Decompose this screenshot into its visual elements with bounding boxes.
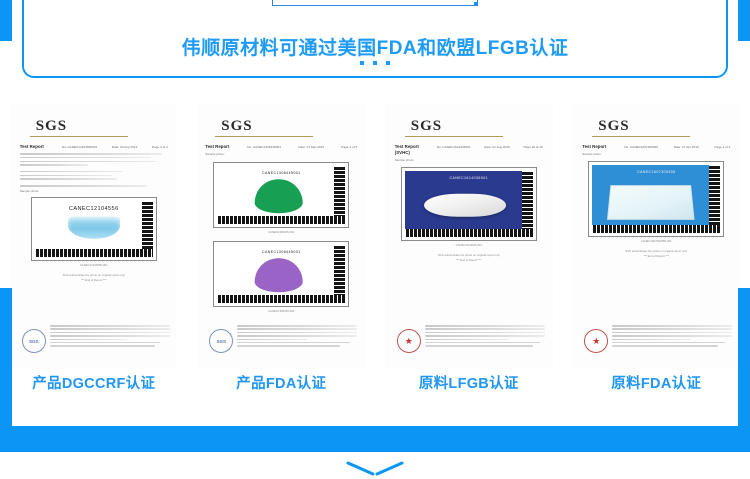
sample-photo: CANEC1614036001 <box>405 171 533 237</box>
sgs-logo: SGS <box>221 118 252 135</box>
seal-address-text <box>612 325 732 355</box>
certificate-item-fda-product[interactable]: SGS Test Report No. CANEC1306445001 Date… <box>188 103 376 403</box>
sample-photo-code: CANEC1607300455 <box>592 170 720 174</box>
report-page: Page 4 of 5 <box>341 145 357 149</box>
sample-photo-caption-top: CANEC1306445-001 <box>214 230 348 234</box>
sample-photo-frame-top: CANEC1306445001 CANEC1306445-001 <box>213 162 349 228</box>
report-body-text <box>20 153 168 187</box>
footer-note-end: *** End of Report *** <box>393 258 545 263</box>
sample-photo-code: CANEC12104556 <box>35 206 153 212</box>
footer-accent-bar <box>0 426 750 452</box>
certificate-item-lfgb-material[interactable]: SGS Test Report (SVHC) No. CANEC16140360… <box>375 103 563 403</box>
sgs-logo-rule <box>215 136 313 137</box>
report-number: No. CANEC1614036001 <box>437 145 471 149</box>
footer-accent-tab-left <box>0 288 12 426</box>
certificate-sheet: SGS Test Report No. CANEC1607300455 Date… <box>572 103 740 369</box>
star-glyph: ★ <box>592 337 600 346</box>
ruler-horizontal <box>405 229 533 237</box>
ruler-vertical <box>522 171 533 237</box>
report-title: Test Report (SVHC) <box>395 144 433 156</box>
sample-photo-caption: CANEC1607300455-001 <box>589 239 723 243</box>
report-date: Date: 03 Aug 2012 <box>112 145 138 149</box>
sgs-logo: SGS <box>411 118 442 135</box>
report-page: Page 10 of 10 <box>523 145 542 149</box>
certificate-item-fda-material[interactable]: SGS Test Report No. CANEC1607300455 Date… <box>563 103 750 403</box>
sample-object-white-sheet <box>607 185 695 220</box>
dot-1 <box>360 61 364 65</box>
decorative-dots <box>0 61 750 65</box>
report-title-sub: (SVHC) <box>395 150 410 155</box>
sgs-logo-rule <box>592 136 690 137</box>
report-page: Page 4 of 4 <box>152 145 168 149</box>
sample-photo-code-bottom: CANEC1306445001 <box>217 250 345 254</box>
sample-photo-frame-bottom: CANEC1306445001 CANEC1306445-002 <box>213 241 349 307</box>
sample-photo-frame: CANEC1614036001 CANEC1614036-001 <box>401 167 537 241</box>
report-page: Page 4 of 4 <box>714 145 730 149</box>
report-header-row: Test Report (SVHC) No. CANEC1614036001 D… <box>395 144 543 156</box>
footer-note-end: *** End of Report *** <box>580 254 732 259</box>
report-title: Test Report <box>582 144 620 150</box>
report-title: Test Report <box>205 144 243 150</box>
report-date: Date: 07 Mar 2013 <box>298 145 324 149</box>
certificate-caption-fda-material: 原料FDA认证 <box>563 372 750 393</box>
seal-address-text <box>50 325 170 355</box>
sgs-seal-icon: SGS <box>22 329 46 353</box>
sgs-logo: SGS <box>598 118 629 135</box>
red-star-seal-icon: ★ <box>397 329 421 353</box>
report-title: Test Report <box>20 144 58 150</box>
sgs-logo-rule <box>30 136 128 137</box>
sgs-logo: SGS <box>36 118 67 135</box>
certificate-sheet: SGS Test Report No. CANEC12104556001 Dat… <box>10 103 178 369</box>
sgs-seal-icon: SGS <box>209 329 233 353</box>
sample-object-white-pebble <box>424 194 506 216</box>
sample-photo-caption: CANEC1614036-001 <box>402 243 536 247</box>
dot-2 <box>373 61 377 65</box>
chevron-down-icon <box>344 461 406 477</box>
report-footer-notes: SGS authenticate the photo on original r… <box>393 253 545 264</box>
star-glyph: ★ <box>405 337 413 346</box>
report-date: Date: 27 Apr 2016 <box>674 145 699 149</box>
certificate-caption-fda-product: 产品FDA认证 <box>188 372 376 393</box>
sample-photo-frame: CANEC1607300455 CANEC1607300455-001 <box>588 161 724 237</box>
certificate-caption-dgccrf: 产品DGCCRF认证 <box>0 372 188 393</box>
certificate-caption-lfgb-material: 原料LFGB认证 <box>375 372 563 393</box>
sample-photo-label: Sample photo: <box>582 152 732 156</box>
sample-photo: CANEC12104556 <box>35 201 153 257</box>
sgs-logo-rule <box>405 136 503 137</box>
certificate-sheet: SGS Test Report (SVHC) No. CANEC16140360… <box>385 103 553 369</box>
report-footer-notes: SGS authenticate the photo on original r… <box>580 249 732 260</box>
report-header-row: Test Report No. CANEC1607300455 Date: 27… <box>582 144 730 150</box>
sample-photo-label: Sample photo: <box>395 158 545 162</box>
certificate-captions-row: 产品DGCCRF认证 产品FDA认证 原料LFGB认证 原料FDA认证 <box>0 372 750 393</box>
report-seal-band: ★ <box>580 325 732 361</box>
sample-photo: CANEC1607300455 <box>592 165 720 233</box>
sample-photo-top: CANEC1306445001 <box>217 166 345 224</box>
report-meta: No. CANEC1607300455 Date: 27 Apr 2016 Pa… <box>624 144 730 149</box>
ruler-horizontal <box>592 225 720 233</box>
report-seal-band: SGS <box>18 325 170 361</box>
scroll-down-indicator[interactable] <box>0 458 750 479</box>
report-meta: No. CANEC1614036001 Date: 21 Aug 2016 Pa… <box>437 144 543 149</box>
ruler-horizontal <box>217 216 345 224</box>
sample-photo-label: Sample photo: <box>205 152 359 156</box>
ruler-horizontal <box>35 249 153 257</box>
certificate-sheet: SGS Test Report No. CANEC1306445001 Date… <box>197 103 365 369</box>
title-box-corner-dot <box>474 2 478 6</box>
ruler-vertical <box>709 165 720 233</box>
report-date: Date: 21 Aug 2016 <box>484 145 510 149</box>
sample-photo-code: CANEC1614036001 <box>405 176 533 180</box>
dot-3 <box>386 61 390 65</box>
red-star-seal-icon: ★ <box>584 329 608 353</box>
report-meta: No. CANEC12104556001 Date: 03 Aug 2012 P… <box>62 144 168 149</box>
page-subtitle: 伟顺原材料可通过美国FDA和欧盟LFGB认证 <box>0 33 750 60</box>
header-banner: 权威检测认证 伟顺原材料可通过美国FDA和欧盟LFGB认证 <box>0 0 750 80</box>
sample-photo-frame: CANEC12104556 CANEC12104556-001 <box>31 197 157 261</box>
sample-photo-caption: CANEC12104556-001 <box>32 263 156 267</box>
sample-photo-bottom: CANEC1306445001 <box>217 245 345 303</box>
report-number: No. CANEC1306445001 <box>247 145 281 149</box>
sample-object-purple-drop <box>254 258 303 292</box>
sample-photo-label: Sample photo: <box>20 189 170 193</box>
seal-address-text <box>237 325 357 355</box>
certificate-item-dgccrf[interactable]: SGS Test Report No. CANEC12104556001 Dat… <box>0 103 188 403</box>
report-seal-band: ★ <box>393 325 545 361</box>
report-meta: No. CANEC1306445001 Date: 07 Mar 2013 Pa… <box>247 144 357 149</box>
report-number: No. CANEC1607300455 <box>624 145 658 149</box>
report-number: No. CANEC12104556001 <box>62 145 97 149</box>
report-footer-notes: SGS authenticate the photo on original r… <box>18 273 170 284</box>
seal-address-text <box>425 325 545 355</box>
sample-object-bowl <box>68 216 120 238</box>
ruler-horizontal <box>217 295 345 303</box>
report-header-row: Test Report No. CANEC12104556001 Date: 0… <box>20 144 168 150</box>
sample-photo-caption-bottom: CANEC1306445-002 <box>214 309 348 313</box>
certificate-grid: SGS Test Report No. CANEC12104556001 Dat… <box>0 103 750 403</box>
sample-object-green-drop <box>254 179 303 213</box>
footer-accent-tab-right <box>738 288 750 426</box>
report-title-main: Test Report <box>395 144 419 149</box>
sample-photo-code-top: CANEC1306445001 <box>217 171 345 175</box>
page-title-box: 权威检测认证 <box>272 0 478 6</box>
footer-note-end: *** End of Report *** <box>18 278 170 283</box>
report-seal-band: SGS <box>205 325 357 361</box>
report-header-row: Test Report No. CANEC1306445001 Date: 07… <box>205 144 357 150</box>
